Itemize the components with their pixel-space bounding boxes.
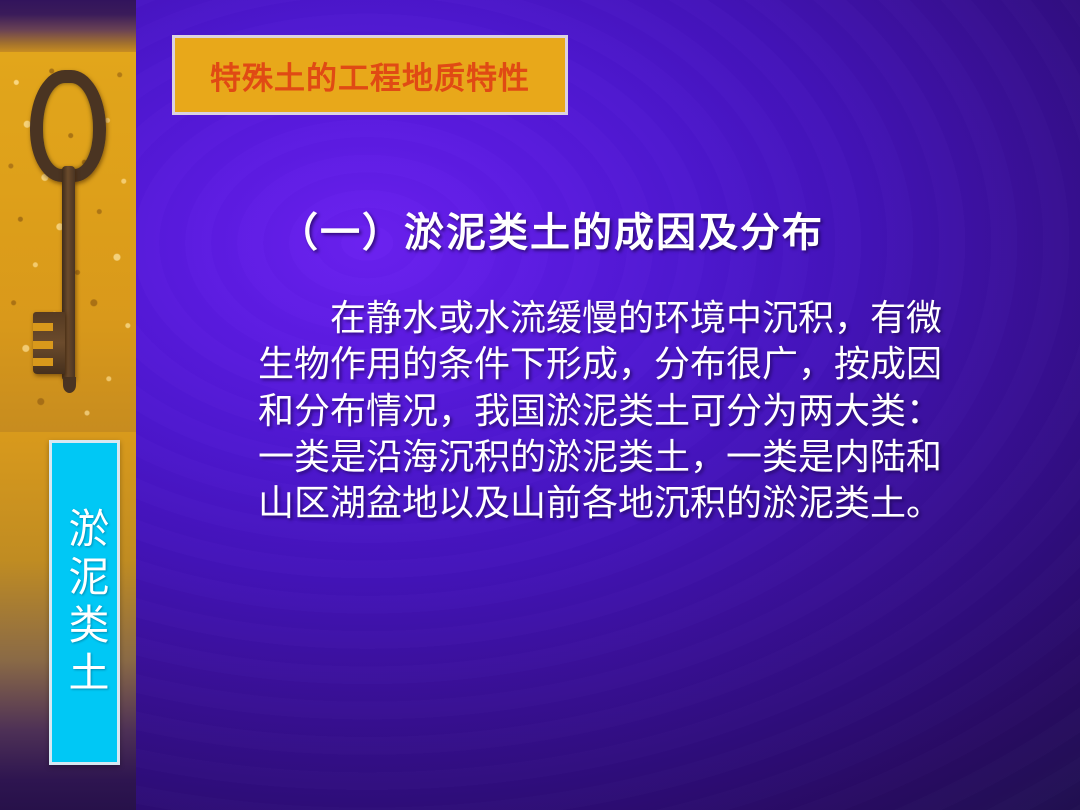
- body-line: 一类是沿海沉积的淤泥类土，一类是内陆和: [258, 435, 988, 481]
- slide-canvas: 淤泥类土 特殊土的工程地质特性 （一）淤泥类土的成因及分布 在静水或水流缓慢的环…: [0, 0, 1080, 810]
- body-line: 山区湖盆地以及山前各地沉积的淤泥类土。: [258, 481, 988, 527]
- body-line: 在静水或水流缓慢的环境中沉积，有微: [258, 296, 988, 342]
- body-paragraph: 在静水或水流缓慢的环境中沉积，有微 生物作用的条件下形成，分布很广，按成因 和分…: [258, 296, 988, 527]
- key-bit-shape: [33, 312, 65, 374]
- body-line: 生物作用的条件下形成，分布很广，按成因: [258, 342, 988, 388]
- title-banner: 特殊土的工程地质特性: [172, 35, 568, 115]
- section-heading: （一）淤泥类土的成因及分布: [278, 200, 824, 258]
- title-banner-text: 特殊土的工程地质特性: [210, 53, 530, 98]
- side-label-text: 淤泥类土: [64, 507, 105, 699]
- body-line: 和分布情况，我国淤泥类土可分为两大类：: [258, 389, 988, 435]
- side-label-panel: 淤泥类土: [49, 440, 120, 765]
- antique-key-icon: [18, 70, 118, 400]
